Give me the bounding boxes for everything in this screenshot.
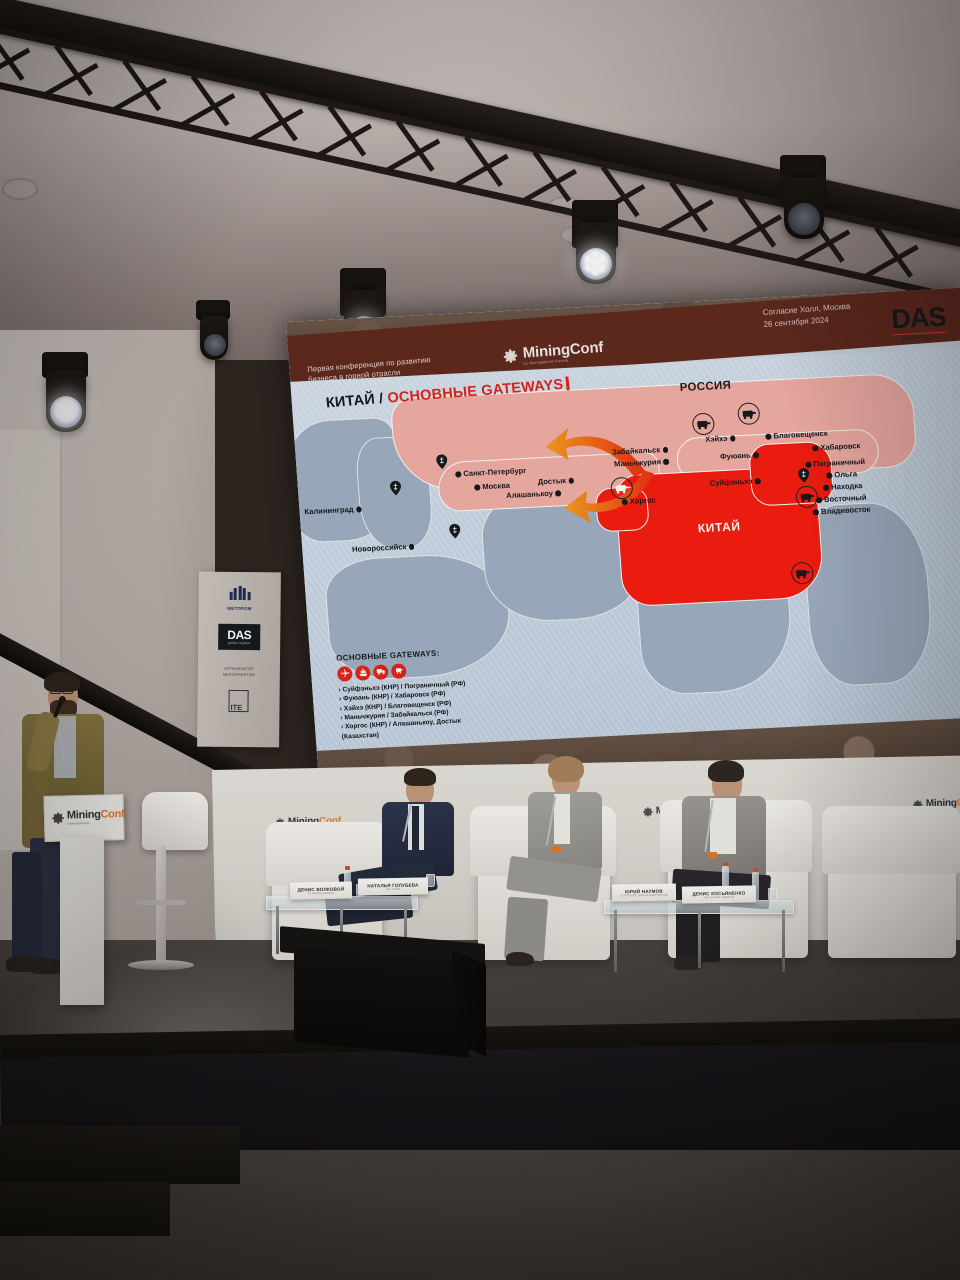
map-label-china: КИТАЙ [697,519,741,535]
map-city-label: Достык [537,476,574,487]
sponsor-metprom: МЕТПРОМ [199,586,281,612]
presentation-screen: Первая конференция по развитию бизнеса в… [286,288,960,801]
train-icon [693,414,714,435]
train-icon [796,486,817,507]
slide-logo-wordmark: MiningConf by MiningWorld Russia [522,339,604,366]
port-anchor-pin-icon [390,480,402,496]
sponsor-ite: ITE [197,690,279,718]
podium-column [60,837,104,1005]
slide-map: КИТАЙ / ОСНОВНЫЕ GATEWAYS РОССИЯ КИТАЙ [290,348,960,751]
train-icon [391,663,407,679]
port-anchor-pin-icon [798,468,810,484]
map-city-label: Хэйхэ [705,433,736,444]
light-lens-icon [50,396,82,428]
gear-icon [503,348,519,364]
podium-miningconf-logo: MiningConf by MiningWorld Russia [52,808,125,826]
metprom-logo-icon [229,586,250,600]
train-icon [738,403,759,424]
led-array-icon [580,248,612,280]
slide: Первая конференция по развитию бизнеса в… [286,288,960,801]
gateway-marker-ring [737,402,761,425]
conference-badge [552,846,561,852]
eyeglasses-icon [50,688,61,694]
gear-icon [52,812,64,824]
plane-icon [337,666,353,682]
port-anchor-pin-icon [449,523,461,539]
drinking-glass [768,888,777,901]
sponsor-organizer-caption: ОРГАНИЗАТОР МЕРОПРИЯТИЯ [198,667,280,679]
sponsor-board: МЕТПРОМ DAS global logistik ОРГАНИЗАТОР … [197,572,281,748]
map-city-label: Хоргос [621,495,656,506]
nameplate: ДЕНИС ВОЛКОВОЙ ГК СОВТРАНСАВТО [290,881,352,899]
gateway-marker-ring [791,562,815,585]
nameplate: ЮРИЙ НАУМОВ ПЕТРОБЛОК, ЖЕЛЕЗНОДОРОЖНЫЙ [612,883,676,901]
panel-armchair-back [822,806,960,874]
ship-icon [355,665,371,681]
podium-logo-wordmark: MiningConf by MiningWorld Russia [67,808,125,825]
nameplate: НАТАЛЬЯ ГОЛУБЕВА МЕТПРОМ [358,877,428,895]
map-city-label: Ольга [826,469,857,480]
slide-miningconf-logo: MiningConf by MiningWorld Russia [502,339,604,367]
slide-das-logo: DAS global logistik [890,305,946,342]
truck-icon [373,664,389,680]
gateway-marker-ring [692,412,716,435]
ceiling-vent-icon [2,178,38,200]
slide-legend: ОСНОВНЫЕ GATEWAYS: [336,644,532,742]
port-anchor-pin-icon [436,454,448,470]
nameplate: ДЕНИС КОСЬЯНЕНКО DAS GLOBAL LOGISTIK [682,885,756,903]
conference-stage-photo: Первая конференция по развитию бизнеса в… [0,0,960,1280]
stage-step [0,1126,240,1184]
podium: MiningConf by MiningWorld Russia [44,795,122,1005]
sponsor-das: DAS global logistik [198,624,280,651]
gear-icon [643,806,653,816]
stage-monitor-speaker [280,935,485,1053]
slide-venue-info: Согласие Холл, Москва 26 сентября 2024 [762,301,851,331]
legend-gateway-list: › Суйфэньхэ (КНР) / Пограничный (РФ)› Фу… [338,676,532,742]
stage-step [0,1182,170,1236]
map-city-label: Москва [474,481,510,492]
conference-badge [708,852,717,858]
train-icon [792,563,813,584]
light-lens-icon [204,334,226,356]
train-icon [611,478,632,499]
light-lens-icon [788,203,820,235]
eyeglasses-icon [62,688,73,694]
